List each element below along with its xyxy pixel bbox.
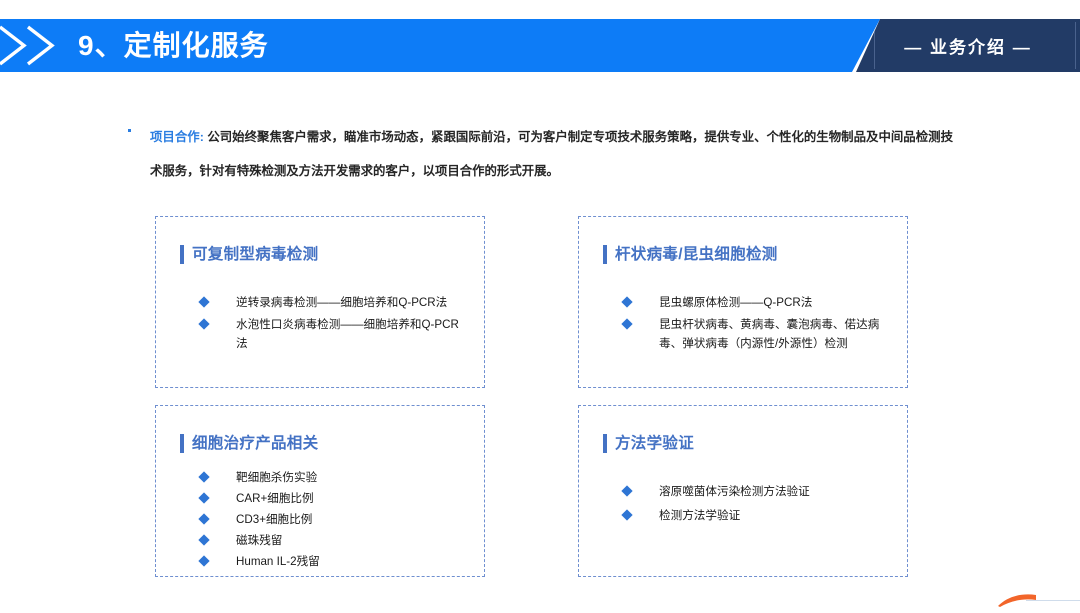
card-item-list: 逆转录病毒检测——细胞培养和Q-PCR法 水泡性口炎病毒检测——细胞培养和Q-P… [200, 293, 470, 356]
card-accent-bar [603, 245, 607, 264]
list-item[interactable]: CD3+细胞比例 [200, 510, 470, 529]
list-item[interactable]: CAR+细胞比例 [200, 489, 470, 508]
list-item[interactable]: 昆虫杆状病毒、黄病毒、囊泡病毒、偌达病毒、弹状病毒（内源性/外源性）检测 [623, 315, 893, 353]
orange-swoosh-decoration [996, 592, 1042, 608]
intro-label: 项目合作: [150, 130, 204, 144]
card-header: 可复制型病毒检测 [180, 245, 318, 264]
diamond-bullet-icon [621, 485, 632, 496]
card-title: 细胞治疗产品相关 [192, 434, 318, 453]
card-item-list: 昆虫螺原体检测——Q-PCR法 昆虫杆状病毒、黄病毒、囊泡病毒、偌达病毒、弹状病… [623, 293, 893, 356]
intro-paragraph: 项目合作: 公司始终聚焦客户需求，瞄准市场动态，紧跟国际前沿，可为客户制定专项技… [128, 120, 953, 188]
diamond-bullet-icon [621, 296, 632, 307]
card-title: 可复制型病毒检测 [192, 245, 318, 264]
card-header: 杆状病毒/昆虫细胞检测 [603, 245, 778, 264]
slide-header: 9、定制化服务 — 业务介绍 — [0, 0, 1080, 90]
intro-text: 项目合作: 公司始终聚焦客户需求，瞄准市场动态，紧跟国际前沿，可为客户制定专项技… [150, 120, 953, 188]
card-item-list: 靶细胞杀伤实验 CAR+细胞比例 CD3+细胞比例 磁珠残留 Human IL-… [200, 468, 470, 573]
double-chevron-right-icon [0, 19, 66, 72]
card-title: 杆状病毒/昆虫细胞检测 [615, 245, 778, 264]
card-cell-therapy-products[interactable]: 细胞治疗产品相关 靶细胞杀伤实验 CAR+细胞比例 CD3+细胞比例 磁珠残留 … [155, 405, 485, 577]
intro-body: 公司始终聚焦客户需求，瞄准市场动态，紧跟国际前沿，可为客户制定专项技术服务策略，… [150, 130, 953, 178]
card-accent-bar [180, 245, 184, 264]
list-item[interactable]: 昆虫螺原体检测——Q-PCR法 [623, 293, 893, 312]
diamond-bullet-icon [198, 471, 209, 482]
list-item[interactable]: 靶细胞杀伤实验 [200, 468, 470, 487]
diamond-bullet-icon [621, 509, 632, 520]
list-item-label: 磁珠残留 [236, 531, 282, 550]
list-item-label: CAR+细胞比例 [236, 489, 314, 508]
list-item-label: 水泡性口炎病毒检测——细胞培养和Q-PCR法 [236, 315, 470, 353]
section-badge-label: — 业务介绍 — [856, 33, 1080, 58]
page-title: 9、定制化服务 [78, 26, 269, 66]
list-item-label: 靶细胞杀伤实验 [236, 468, 317, 487]
diamond-bullet-icon [198, 555, 209, 566]
card-accent-bar [180, 434, 184, 453]
list-item-label: 逆转录病毒检测——细胞培养和Q-PCR法 [236, 293, 447, 312]
list-item[interactable]: Human IL-2残留 [200, 552, 470, 571]
card-header: 方法学验证 [603, 434, 694, 453]
list-item-label: 昆虫螺原体检测——Q-PCR法 [659, 293, 812, 312]
card-item-list: 溶原噬菌体污染检测方法验证 检测方法学验证 [623, 482, 893, 530]
card-accent-bar [603, 434, 607, 453]
card-baculovirus-insect-cell-detection[interactable]: 杆状病毒/昆虫细胞检测 昆虫螺原体检测——Q-PCR法 昆虫杆状病毒、黄病毒、囊… [578, 216, 908, 388]
diamond-bullet-icon [198, 318, 209, 329]
list-item[interactable]: 磁珠残留 [200, 531, 470, 550]
card-header: 细胞治疗产品相关 [180, 434, 318, 453]
diamond-bullet-icon [198, 534, 209, 545]
list-item-label: Human IL-2残留 [236, 552, 320, 571]
diamond-bullet-icon [198, 296, 209, 307]
list-item-label: CD3+细胞比例 [236, 510, 312, 529]
card-title: 方法学验证 [615, 434, 694, 453]
list-item[interactable]: 检测方法学验证 [623, 506, 893, 525]
diamond-bullet-icon [198, 513, 209, 524]
list-item[interactable]: 水泡性口炎病毒检测——细胞培养和Q-PCR法 [200, 315, 470, 353]
card-replicable-virus-detection[interactable]: 可复制型病毒检测 逆转录病毒检测——细胞培养和Q-PCR法 水泡性口炎病毒检测—… [155, 216, 485, 388]
diamond-bullet-icon [198, 492, 209, 503]
small-square-bullet-icon [128, 129, 131, 132]
list-item[interactable]: 逆转录病毒检测——细胞培养和Q-PCR法 [200, 293, 470, 312]
section-badge: — 业务介绍 — [856, 19, 1080, 72]
list-item-label: 检测方法学验证 [659, 506, 740, 525]
list-item-label: 溶原噬菌体污染检测方法验证 [659, 482, 810, 501]
card-method-validation[interactable]: 方法学验证 溶原噬菌体污染检测方法验证 检测方法学验证 [578, 405, 908, 577]
list-item-label: 昆虫杆状病毒、黄病毒、囊泡病毒、偌达病毒、弹状病毒（内源性/外源性）检测 [659, 315, 893, 353]
diamond-bullet-icon [621, 318, 632, 329]
list-item[interactable]: 溶原噬菌体污染检测方法验证 [623, 482, 893, 501]
